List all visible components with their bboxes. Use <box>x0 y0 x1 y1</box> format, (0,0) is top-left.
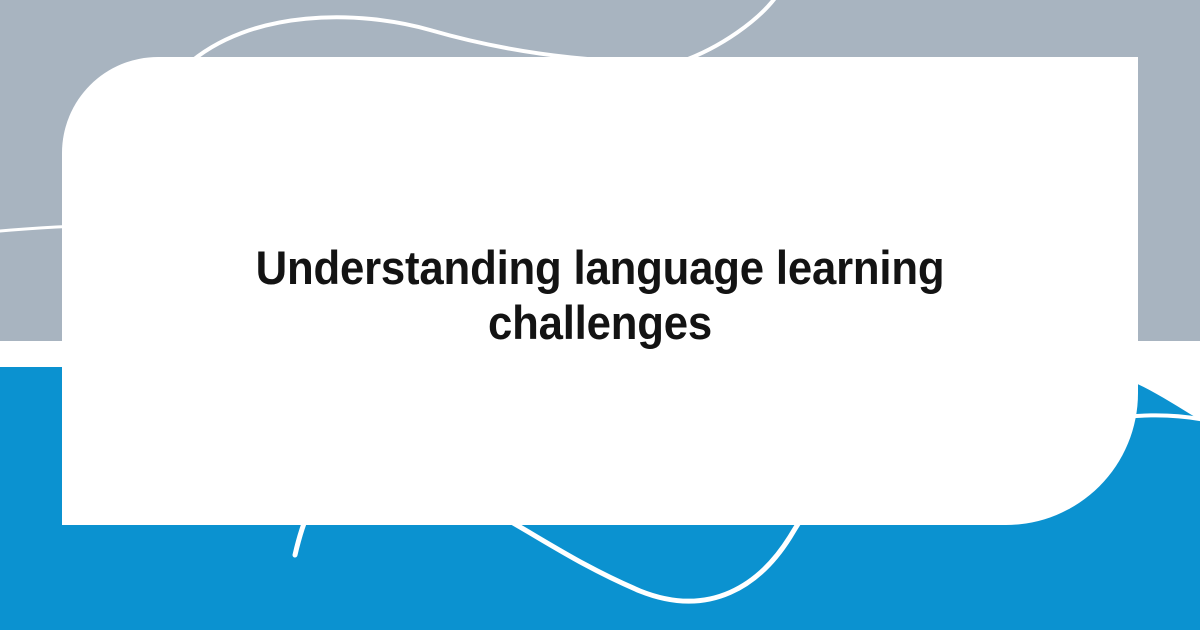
social-card-banner: Understanding language learning challeng… <box>0 0 1200 630</box>
content-card: Understanding language learning challeng… <box>62 57 1138 525</box>
page-title: Understanding language learning challeng… <box>247 240 954 351</box>
